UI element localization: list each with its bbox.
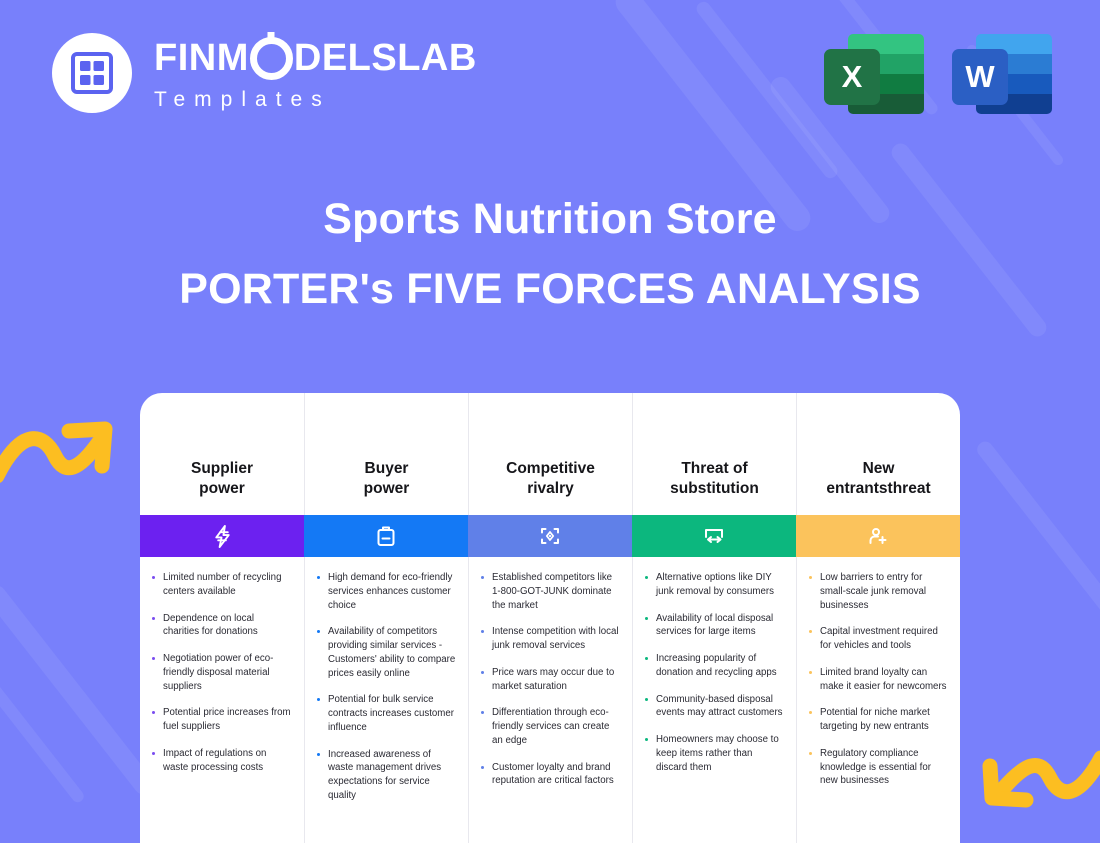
office-format-icons: X W bbox=[824, 27, 1052, 121]
column-title-line1: New bbox=[826, 459, 930, 479]
list-item: Established competitors like 1-800-GOT-J… bbox=[479, 571, 620, 612]
column-band-row bbox=[468, 515, 632, 557]
exchange-arrows-icon bbox=[701, 524, 727, 548]
column-band bbox=[304, 515, 468, 557]
brand-name: FINM DELSLAB bbox=[154, 37, 477, 80]
list-item: Customer loyalty and brand reputation ar… bbox=[479, 761, 620, 789]
column-band bbox=[796, 515, 960, 557]
column-body: Alternative options like DIY junk remova… bbox=[632, 557, 796, 843]
brand-name-after: DELSLAB bbox=[294, 39, 477, 77]
list-item: Community-based disposal events may attr… bbox=[643, 693, 784, 721]
page-subtitle: PORTER's FIVE FORCES ANALYSIS bbox=[0, 265, 1100, 314]
briefcase-icon bbox=[375, 524, 397, 548]
column-title-line1: Buyer bbox=[364, 459, 410, 479]
bullet-list: Established competitors like 1-800-GOT-J… bbox=[479, 571, 620, 788]
forces-columns: Supplier power Limited number of recy bbox=[140, 393, 960, 843]
force-column-competitive-rivalry: Competitive rivalry Est bbox=[468, 393, 632, 843]
bullet-list: Limited number of recycling centers avai… bbox=[150, 571, 292, 774]
word-icon: W bbox=[952, 27, 1052, 121]
column-title-line1: Competitive bbox=[506, 459, 595, 479]
brand-o-mark bbox=[250, 37, 293, 80]
list-item: Availability of competitors providing si… bbox=[315, 625, 456, 680]
title-block: Sports Nutrition Store PORTER's FIVE FOR… bbox=[0, 195, 1100, 314]
column-header: New entrantsthreat bbox=[796, 393, 960, 515]
brand-text: FINM DELSLAB Templates bbox=[154, 37, 477, 110]
list-item: Dependence on local charities for donati… bbox=[150, 612, 292, 640]
page-header: FINM DELSLAB Templates X W bbox=[0, 0, 1100, 160]
column-header: Threat of substitution bbox=[632, 393, 796, 515]
word-badge: W bbox=[952, 49, 1008, 105]
grid-squares-icon bbox=[52, 33, 132, 113]
column-band-row bbox=[632, 515, 796, 557]
column-header: Competitive rivalry bbox=[468, 393, 632, 515]
column-title-line2: substitution bbox=[670, 479, 759, 499]
list-item: Intense competition with local junk remo… bbox=[479, 625, 620, 653]
column-title-line2: entrantsthreat bbox=[826, 479, 930, 499]
force-column-new-entrants-threat: New entrantsthreat bbox=[796, 393, 960, 843]
list-item: Price wars may occur due to market satur… bbox=[479, 666, 620, 694]
column-header: Buyer power bbox=[304, 393, 468, 515]
column-body: Low barriers to entry for small-scale ju… bbox=[796, 557, 960, 843]
list-item: Increasing popularity of donation and re… bbox=[643, 652, 784, 680]
squiggle-arrow-up-right-icon bbox=[0, 398, 125, 493]
column-band-row bbox=[796, 515, 960, 557]
column-title-line2: power bbox=[191, 479, 253, 499]
list-item: Homeowners may choose to keep items rath… bbox=[643, 733, 784, 774]
add-user-icon bbox=[865, 524, 891, 548]
list-item: Alternative options like DIY junk remova… bbox=[643, 571, 784, 599]
list-item: Increased awareness of waste management … bbox=[315, 748, 456, 803]
list-item: Potential price increases from fuel supp… bbox=[150, 706, 292, 734]
column-title-line1: Threat of bbox=[670, 459, 759, 479]
list-item: Negotiation power of eco-friendly dispos… bbox=[150, 652, 292, 693]
force-column-threat-of-substitution: Threat of substitution bbox=[632, 393, 796, 843]
list-item: Potential for bulk service contracts inc… bbox=[315, 693, 456, 734]
column-band bbox=[468, 515, 632, 557]
force-column-supplier-power: Supplier power Limited number of recy bbox=[140, 393, 304, 843]
column-band bbox=[632, 515, 796, 557]
list-item: Potential for niche market targeting by … bbox=[807, 706, 948, 734]
porters-five-forces-card: Supplier power Limited number of recy bbox=[140, 393, 960, 843]
column-title-line2: power bbox=[364, 479, 410, 499]
column-header: Supplier power bbox=[140, 393, 304, 515]
list-item: Regulatory compliance knowledge is essen… bbox=[807, 747, 948, 788]
list-item: Limited number of recycling centers avai… bbox=[150, 571, 292, 599]
force-column-buyer-power: Buyer power High deman bbox=[304, 393, 468, 843]
brand-name-before: FINM bbox=[154, 39, 249, 77]
list-item: Impact of regulations on waste processin… bbox=[150, 747, 292, 775]
column-body: Limited number of recycling centers avai… bbox=[140, 557, 304, 843]
brand-logo: FINM DELSLAB Templates bbox=[52, 33, 477, 113]
column-title-line2: rivalry bbox=[506, 479, 595, 499]
column-band-row bbox=[140, 515, 304, 557]
column-body: High demand for eco-friendly services en… bbox=[304, 557, 468, 843]
list-item: Limited brand loyalty can make it easier… bbox=[807, 666, 948, 694]
focus-target-icon bbox=[538, 524, 562, 548]
list-item: Capital investment required for vehicles… bbox=[807, 625, 948, 653]
column-body: Established competitors like 1-800-GOT-J… bbox=[468, 557, 632, 843]
lightning-bolt-icon bbox=[211, 524, 234, 549]
column-band-row bbox=[304, 515, 468, 557]
list-item: Low barriers to entry for small-scale ju… bbox=[807, 571, 948, 612]
excel-badge: X bbox=[824, 49, 880, 105]
squiggle-arrow-down-left-icon bbox=[968, 742, 1100, 837]
list-item: Availability of local disposal services … bbox=[643, 612, 784, 640]
list-item: High demand for eco-friendly services en… bbox=[315, 571, 456, 612]
list-item: Differentiation through eco-friendly ser… bbox=[479, 706, 620, 747]
page-title: Sports Nutrition Store bbox=[0, 195, 1100, 244]
brand-tagline: Templates bbox=[154, 89, 477, 110]
bullet-list: Alternative options like DIY junk remova… bbox=[643, 571, 784, 774]
excel-icon: X bbox=[824, 27, 924, 121]
bullet-list: Low barriers to entry for small-scale ju… bbox=[807, 571, 948, 788]
column-title-line1: Supplier bbox=[191, 459, 253, 479]
column-band bbox=[140, 515, 304, 557]
bullet-list: High demand for eco-friendly services en… bbox=[315, 571, 456, 803]
